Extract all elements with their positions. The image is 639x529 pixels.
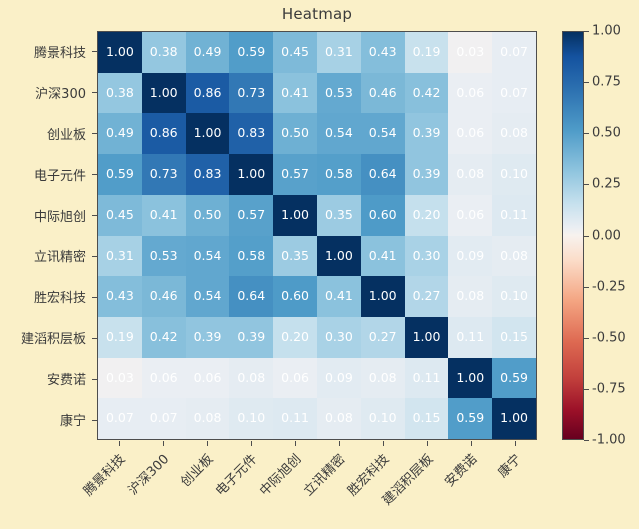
- heatmap-cell[interactable]: 0.07: [492, 73, 536, 114]
- heatmap-cell[interactable]: 0.59: [229, 32, 273, 73]
- heatmap-cell[interactable]: 1.00: [492, 398, 536, 439]
- heatmap-cell[interactable]: 0.73: [142, 154, 186, 195]
- heatmap-cell[interactable]: 0.20: [405, 195, 449, 236]
- heatmap-cell[interactable]: 0.83: [229, 113, 273, 154]
- heatmap-cell[interactable]: 0.30: [405, 236, 449, 277]
- heatmap-cell[interactable]: 0.42: [405, 73, 449, 114]
- heatmap-cell[interactable]: 0.86: [142, 113, 186, 154]
- colorbar-tick-mark: [584, 338, 589, 339]
- heatmap-cell[interactable]: 0.50: [273, 113, 317, 154]
- heatmap-cell[interactable]: 0.59: [448, 398, 492, 439]
- y-axis-tick-mark: [90, 358, 97, 399]
- heatmap-cell[interactable]: 0.39: [229, 317, 273, 358]
- heatmap-cell[interactable]: 1.00: [142, 73, 186, 114]
- heatmap-cell[interactable]: 0.57: [273, 154, 317, 195]
- heatmap-cell[interactable]: 0.57: [229, 195, 273, 236]
- y-axis-tick-mark: [90, 399, 97, 440]
- heatmap-cell[interactable]: 0.06: [273, 358, 317, 399]
- heatmap-cell[interactable]: 0.03: [98, 358, 142, 399]
- colorbar-tick-label: -1.00: [592, 433, 626, 448]
- heatmap-cell[interactable]: 0.83: [186, 154, 230, 195]
- heatmap-cell[interactable]: 0.60: [273, 276, 317, 317]
- heatmap-cell[interactable]: 0.08: [492, 113, 536, 154]
- heatmap-cell[interactable]: 0.10: [229, 398, 273, 439]
- heatmap-cell[interactable]: 0.11: [448, 317, 492, 358]
- heatmap-cell[interactable]: 0.35: [317, 195, 361, 236]
- colorbar-gradient: [562, 31, 584, 440]
- heatmap-cell[interactable]: 0.09: [448, 236, 492, 277]
- heatmap-cell[interactable]: 1.00: [186, 113, 230, 154]
- heatmap-cell[interactable]: 0.08: [448, 154, 492, 195]
- x-axis-label-slot: 康宁: [493, 447, 537, 527]
- y-axis-tick-mark: [90, 31, 97, 72]
- x-axis-label-slot: 安费诺: [449, 447, 493, 527]
- colorbar-tick-mark: [584, 236, 589, 237]
- x-axis-label: 腾景科技: [78, 449, 128, 499]
- heatmap-cell[interactable]: 0.54: [186, 236, 230, 277]
- heatmap-cell[interactable]: 0.58: [317, 154, 361, 195]
- y-axis-tick-mark: [90, 276, 97, 317]
- heatmap-cell[interactable]: 0.39: [405, 154, 449, 195]
- x-axis-label: 康宁: [493, 449, 525, 481]
- heatmap-cell[interactable]: 0.43: [361, 32, 405, 73]
- heatmap-cell[interactable]: 0.10: [492, 154, 536, 195]
- heatmap-cell[interactable]: 0.86: [186, 73, 230, 114]
- heatmap-cell[interactable]: 0.46: [142, 276, 186, 317]
- heatmap-cell[interactable]: 0.41: [273, 73, 317, 114]
- heatmap-cell[interactable]: 0.41: [361, 236, 405, 277]
- y-axis-label: 中际旭创: [0, 195, 88, 236]
- heatmap-cell[interactable]: 0.38: [142, 32, 186, 73]
- y-axis-ticks: [90, 31, 97, 440]
- y-axis-tick-mark: [90, 317, 97, 358]
- heatmap-cell[interactable]: 0.06: [448, 73, 492, 114]
- heatmap-cell[interactable]: 0.50: [186, 195, 230, 236]
- heatmap-cell[interactable]: 0.46: [361, 73, 405, 114]
- y-axis-label: 建滔积层板: [0, 317, 88, 358]
- heatmap-cell[interactable]: 0.10: [492, 276, 536, 317]
- y-axis-label: 立讯精密: [0, 236, 88, 277]
- heatmap-cell[interactable]: 0.42: [142, 317, 186, 358]
- y-axis-tick-mark: [90, 72, 97, 113]
- y-axis-tick-mark: [90, 154, 97, 195]
- heatmap-cell[interactable]: 0.19: [98, 317, 142, 358]
- heatmap-cell[interactable]: 0.15: [405, 398, 449, 439]
- heatmap-cell[interactable]: 0.08: [361, 358, 405, 399]
- heatmap-cell[interactable]: 0.31: [98, 236, 142, 277]
- y-axis-tick-mark: [90, 195, 97, 236]
- heatmap-cell[interactable]: 0.54: [317, 113, 361, 154]
- heatmap-cell[interactable]: 0.58: [229, 236, 273, 277]
- colorbar-tick-label: 0.25: [592, 177, 621, 192]
- heatmap-cell[interactable]: 0.38: [98, 73, 142, 114]
- heatmap-cell[interactable]: 0.20: [273, 317, 317, 358]
- heatmap-cell[interactable]: 0.64: [361, 154, 405, 195]
- chart-title: Heatmap: [97, 5, 537, 23]
- heatmap-cell[interactable]: 1.00: [317, 236, 361, 277]
- y-axis-label: 胜宏科技: [0, 276, 88, 317]
- colorbar-tick-label: -0.75: [592, 381, 626, 396]
- heatmap-cell[interactable]: 0.08: [229, 358, 273, 399]
- colorbar-tick-label: 0.75: [592, 75, 621, 90]
- heatmap-cell[interactable]: 0.27: [405, 276, 449, 317]
- heatmap-cell[interactable]: 0.27: [361, 317, 405, 358]
- heatmap-cell[interactable]: 0.45: [273, 32, 317, 73]
- heatmap-cell[interactable]: 0.06: [448, 195, 492, 236]
- colorbar-tick-mark: [584, 82, 589, 83]
- colorbar-tick-mark: [584, 31, 589, 32]
- heatmap-cell[interactable]: 0.43: [98, 276, 142, 317]
- heatmap-cell[interactable]: 0.06: [142, 358, 186, 399]
- y-axis-tick-mark: [90, 113, 97, 154]
- heatmap-cell[interactable]: 0.39: [405, 113, 449, 154]
- colorbar-tick-mark: [584, 287, 589, 288]
- heatmap-cell[interactable]: 1.00: [229, 154, 273, 195]
- heatmap-cell[interactable]: 0.08: [492, 236, 536, 277]
- colorbar-tick-mark: [584, 389, 589, 390]
- heatmap-cell[interactable]: 1.00: [448, 358, 492, 399]
- heatmap-cell[interactable]: 0.11: [273, 398, 317, 439]
- heatmap-cell[interactable]: 0.59: [98, 154, 142, 195]
- heatmap-cell[interactable]: 0.31: [317, 32, 361, 73]
- heatmap-cell[interactable]: 0.59: [492, 358, 536, 399]
- colorbar-tick-label: 0.00: [592, 228, 621, 243]
- heatmap-cell[interactable]: 0.41: [317, 276, 361, 317]
- heatmap-cell[interactable]: 0.11: [492, 195, 536, 236]
- y-axis-label: 腾景科技: [0, 31, 88, 72]
- heatmap-cell[interactable]: 0.09: [317, 358, 361, 399]
- heatmap-cell[interactable]: 0.64: [229, 276, 273, 317]
- heatmap-cell[interactable]: 0.60: [361, 195, 405, 236]
- heatmap-cell[interactable]: 0.06: [186, 358, 230, 399]
- heatmap-cell[interactable]: 0.10: [361, 398, 405, 439]
- colorbar-tick-mark: [584, 184, 589, 185]
- y-axis-label: 电子元件: [0, 154, 88, 195]
- heatmap-cell[interactable]: 0.06: [448, 113, 492, 154]
- colorbar-tick-label: -0.50: [592, 330, 626, 345]
- x-axis-label-slot: 沪深300: [141, 447, 185, 527]
- heatmap-cell[interactable]: 0.35: [273, 236, 317, 277]
- x-axis-labels: 腾景科技沪深300创业板电子元件中际旭创立讯精密胜宏科技建滔积层板安费诺康宁: [97, 447, 537, 527]
- heatmap-cell[interactable]: 0.30: [317, 317, 361, 358]
- heatmap-cell[interactable]: 0.15: [492, 317, 536, 358]
- heatmap-cell[interactable]: 0.07: [492, 32, 536, 73]
- colorbar-tick-label: 0.50: [592, 126, 621, 141]
- heatmap-cell[interactable]: 0.54: [361, 113, 405, 154]
- y-axis-labels: 腾景科技沪深300创业板电子元件中际旭创立讯精密胜宏科技建滔积层板安费诺康宁: [0, 31, 88, 440]
- colorbar-tick-mark: [584, 133, 589, 134]
- heatmap-cell[interactable]: 0.49: [186, 32, 230, 73]
- y-axis-label: 沪深300: [0, 72, 88, 113]
- heatmap-cell[interactable]: 0.08: [186, 398, 230, 439]
- heatmap-cell[interactable]: 0.54: [186, 276, 230, 317]
- heatmap-cell[interactable]: 0.73: [229, 73, 273, 114]
- heatmap-cell[interactable]: 1.00: [405, 317, 449, 358]
- y-axis-tick-mark: [90, 236, 97, 277]
- heatmap-cell[interactable]: 0.45: [98, 195, 142, 236]
- y-axis-label: 康宁: [0, 399, 88, 440]
- heatmap-cell[interactable]: 0.19: [405, 32, 449, 73]
- colorbar-tick-label: 1.00: [592, 24, 621, 39]
- heatmap-cell[interactable]: 1.00: [98, 32, 142, 73]
- heatmap-cell[interactable]: 0.53: [142, 236, 186, 277]
- colorbar-tick-mark: [584, 440, 589, 441]
- heatmap-cell[interactable]: 1.00: [273, 195, 317, 236]
- heatmap-cell[interactable]: 0.39: [186, 317, 230, 358]
- heatmap-cell[interactable]: 0.08: [448, 276, 492, 317]
- heatmap-cell[interactable]: 0.11: [405, 358, 449, 399]
- x-axis-label-slot: 建滔积层板: [405, 447, 449, 527]
- heatmap-figure: Heatmap 腾景科技沪深300创业板电子元件中际旭创立讯精密胜宏科技建滔积层…: [0, 0, 639, 529]
- heatmap-cell[interactable]: 0.49: [98, 113, 142, 154]
- heatmap-cell[interactable]: 0.08: [317, 398, 361, 439]
- colorbar-ticks: 1.000.750.500.250.00-0.25-0.50-0.75-1.00: [584, 31, 634, 440]
- heatmap-cell[interactable]: 0.03: [448, 32, 492, 73]
- heatmap-cell[interactable]: 0.41: [142, 195, 186, 236]
- y-axis-label: 创业板: [0, 113, 88, 154]
- heatmap-cell[interactable]: 1.00: [361, 276, 405, 317]
- heatmap-cell[interactable]: 0.07: [142, 398, 186, 439]
- y-axis-label: 安费诺: [0, 358, 88, 399]
- heatmap-cell[interactable]: 0.53: [317, 73, 361, 114]
- heatmap-cell[interactable]: 0.07: [98, 398, 142, 439]
- heatmap-grid[interactable]: 1.000.380.490.590.450.310.430.190.030.07…: [97, 31, 537, 440]
- colorbar-tick-label: -0.25: [592, 279, 626, 294]
